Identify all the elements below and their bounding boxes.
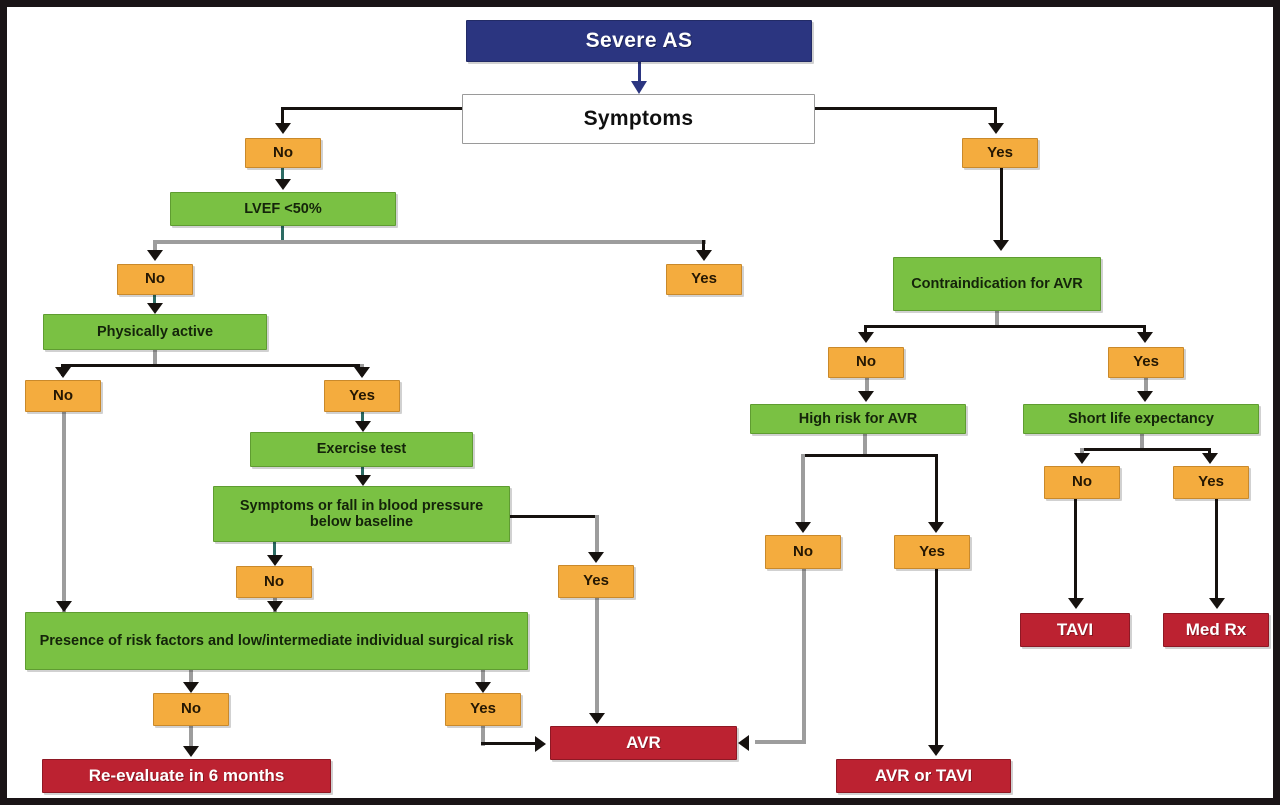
- node-contraindication[interactable]: Contraindication for AVR: [893, 257, 1101, 311]
- node-risk-factors[interactable]: Presence of risk factors and low/interme…: [25, 612, 528, 670]
- arrow-severeas-symptoms: [631, 81, 647, 94]
- node-pa-yes[interactable]: Yes: [324, 380, 400, 412]
- node-ci-no[interactable]: No: [828, 347, 904, 378]
- node-symptoms-or-fall[interactable]: Symptoms or fall in blood pressure below…: [213, 486, 510, 542]
- node-sf-yes[interactable]: Yes: [558, 565, 634, 598]
- flowchart-frame: Severe AS Symptoms No Yes LVEF <50% No Y…: [0, 0, 1280, 805]
- edge-symyes-ci: [1000, 168, 1003, 244]
- arrow-no-lvef: [275, 179, 291, 190]
- node-avr-or-tavi[interactable]: AVR or TAVI: [836, 759, 1011, 793]
- arrow-ciyes-shortlife: [1137, 391, 1153, 402]
- edge-hr-no-v: [801, 454, 805, 526]
- flowchart-canvas: Severe AS Symptoms No Yes LVEF <50% No Y…: [7, 7, 1273, 798]
- arrow-slyes-medrx: [1209, 598, 1225, 609]
- arrow-sf-yes: [588, 552, 604, 563]
- node-lvef-no[interactable]: No: [117, 264, 193, 295]
- arrow-rf-yes: [475, 682, 491, 693]
- arrow-slno-tavi: [1068, 598, 1084, 609]
- arrow-rf-no: [183, 682, 199, 693]
- arrow-lvef-no: [147, 250, 163, 261]
- node-symptoms[interactable]: Symptoms: [462, 94, 815, 144]
- node-med-rx[interactable]: Med Rx: [1163, 613, 1269, 647]
- edge-pa-split: [61, 364, 362, 367]
- arrow-ci-yes: [1137, 332, 1153, 343]
- node-physically-active[interactable]: Physically active: [43, 314, 267, 350]
- arrow-sl-yes: [1202, 453, 1218, 464]
- arrow-cino-highrisk: [858, 391, 874, 402]
- node-hr-no[interactable]: No: [765, 535, 841, 569]
- node-hr-yes[interactable]: Yes: [894, 535, 970, 569]
- arrow-rfno-reevaluate: [183, 746, 199, 757]
- node-rf-no[interactable]: No: [153, 693, 229, 726]
- arrow-hr-yes: [928, 522, 944, 533]
- node-pa-no[interactable]: No: [25, 380, 101, 412]
- node-high-risk[interactable]: High risk for AVR: [750, 404, 966, 434]
- edge-symptoms-right: [814, 107, 997, 110]
- node-sl-no[interactable]: No: [1044, 466, 1120, 499]
- arrow-symptoms-no: [275, 123, 291, 134]
- node-rf-yes[interactable]: Yes: [445, 693, 521, 726]
- arrow-pa-yes: [354, 367, 370, 378]
- node-reevaluate[interactable]: Re-evaluate in 6 months: [42, 759, 331, 793]
- node-tavi[interactable]: TAVI: [1020, 613, 1130, 647]
- arrow-ci-no: [858, 332, 874, 343]
- edge-pano-riskfactors: [62, 412, 66, 615]
- node-symptoms-yes[interactable]: Yes: [962, 138, 1038, 168]
- edge-sfyes-avr: [595, 598, 599, 722]
- edge-lvef-split: [153, 240, 706, 244]
- arrow-exercise-sf: [355, 475, 371, 486]
- arrow-hr-no: [795, 522, 811, 533]
- node-ci-yes[interactable]: Yes: [1108, 347, 1184, 378]
- node-symptoms-no[interactable]: No: [245, 138, 321, 168]
- arrow-lvef-yes: [696, 250, 712, 261]
- edge-hryes-avrortavi: [935, 569, 938, 749]
- edge-hrno-v: [802, 569, 806, 744]
- node-sf-no[interactable]: No: [236, 566, 312, 598]
- arrow-pa-no: [55, 367, 71, 378]
- arrow-rfyes-avr: [535, 736, 546, 752]
- node-sl-yes[interactable]: Yes: [1173, 466, 1249, 499]
- arrow-sfyes-avr: [589, 713, 605, 724]
- node-lvef-yes[interactable]: Yes: [666, 264, 742, 295]
- node-severe-as[interactable]: Severe AS: [466, 20, 812, 62]
- edge-sl-split: [1080, 448, 1211, 451]
- edge-ci-split: [864, 325, 1145, 328]
- arrow-lvefno-pa: [147, 303, 163, 314]
- node-avr[interactable]: AVR: [550, 726, 737, 760]
- edge-rfyes-h: [481, 742, 543, 745]
- edge-hr-yes-v: [935, 454, 938, 526]
- arrow-symyes-ci: [993, 240, 1009, 251]
- edge-slyes-medrx: [1215, 499, 1218, 602]
- edge-hrno-h: [755, 740, 806, 744]
- arrow-sfno-riskfactors: [267, 601, 283, 612]
- arrow-hrno-avr: [738, 735, 749, 751]
- arrow-symptoms-yes: [988, 123, 1004, 134]
- arrow-pano-riskfactors: [56, 601, 72, 612]
- edge-sf-yes-h: [510, 515, 599, 518]
- node-lvef[interactable]: LVEF <50%: [170, 192, 396, 226]
- arrow-payes-exercise: [355, 421, 371, 432]
- node-short-life[interactable]: Short life expectancy: [1023, 404, 1259, 434]
- edge-symptoms-left: [281, 107, 463, 110]
- edge-symptoms-no-v: [281, 107, 284, 124]
- arrow-sf-no: [267, 555, 283, 566]
- edge-slno-tavi: [1074, 499, 1077, 602]
- arrow-sl-no: [1074, 453, 1090, 464]
- edge-symptoms-yes-v: [994, 107, 997, 124]
- edge-hr-split: [801, 454, 938, 457]
- node-exercise-test[interactable]: Exercise test: [250, 432, 473, 467]
- arrow-hryes-avrortavi: [928, 745, 944, 756]
